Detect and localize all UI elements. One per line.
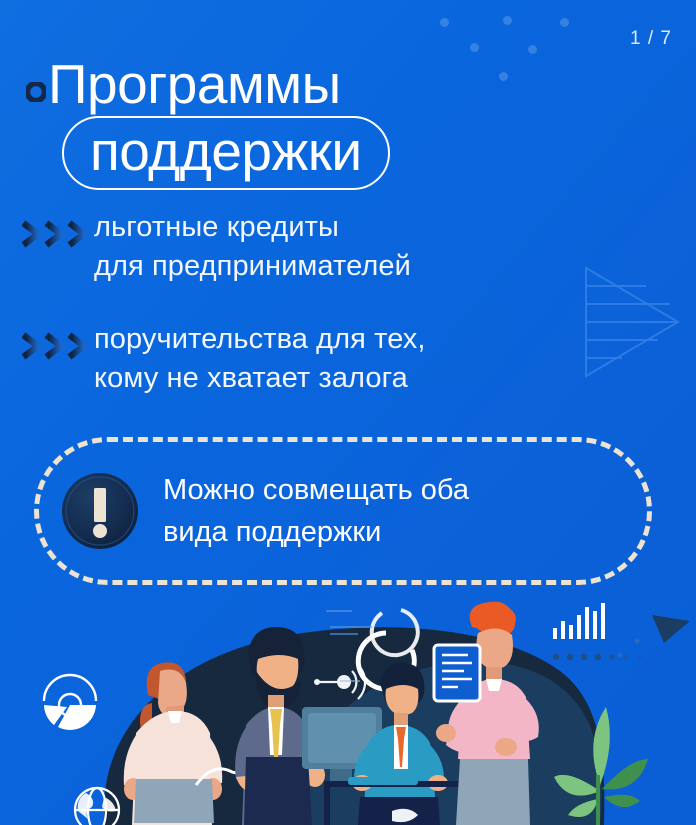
ring-icon <box>26 82 46 102</box>
list-item-text: льготные кредиты для предпринимателей <box>94 208 411 286</box>
list-item-text-line2: для предпринимателей <box>94 247 411 286</box>
page-title-line1: Программы <box>48 54 648 114</box>
page-title-pill: поддержки <box>62 116 390 190</box>
paper-plane-icon <box>652 615 690 643</box>
list-item-text-line1: льготные кредиты <box>94 208 411 247</box>
pie-chart-icon-fill <box>44 705 96 730</box>
callout-text-line2: вида поддержки <box>163 511 469 553</box>
page-title: Программы поддержки <box>48 54 648 190</box>
triple-chevron-icon <box>22 208 94 253</box>
triple-chevron-icon <box>22 320 94 365</box>
slide-root: 1 / 7 Программы поддержки <box>0 0 696 825</box>
page-indicator: 1 / 7 <box>630 28 672 50</box>
document-icon <box>434 645 480 701</box>
list-item-text: поручительства для тех, кому не хватает … <box>94 320 426 398</box>
callout-text-line1: Можно совмещать оба <box>163 469 469 511</box>
dotted-connector <box>553 654 642 660</box>
callout-text: Можно совмещать оба вида поддержки <box>163 469 469 553</box>
list-item-text-line1: поручительства для тех, <box>94 320 426 359</box>
list-item-text-line2: кому не хватает залога <box>94 359 426 398</box>
business-people-teamwork-illustration <box>0 585 696 825</box>
striped-triangle-icon <box>566 262 692 392</box>
callout-box: Можно совмещать оба вида поддержки <box>34 437 652 585</box>
bar-chart-icon <box>553 603 605 639</box>
exclamation-circle-icon <box>61 472 139 550</box>
